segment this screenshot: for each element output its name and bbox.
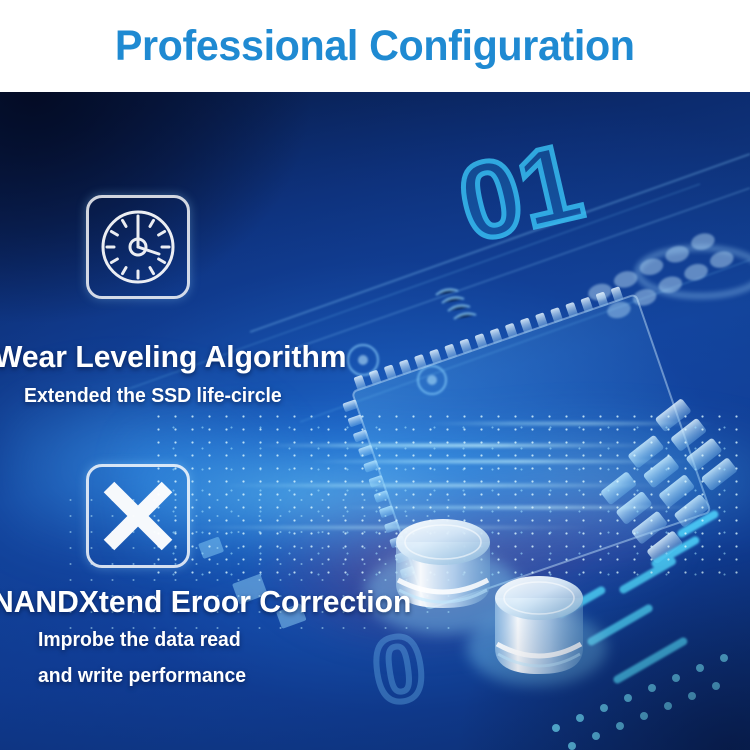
x-mark-icon — [89, 467, 187, 565]
clock-icon — [89, 198, 187, 296]
feature-subline: Extended the SSD life-circle — [24, 386, 282, 406]
feature-subline: and write performance — [38, 666, 246, 686]
capacitor-right — [495, 576, 583, 674]
x-mark-icon-frame — [86, 464, 190, 568]
feature-subline: Improbe the data read — [38, 630, 241, 650]
header-band: Professional Configuration — [0, 0, 750, 92]
feature-headline: Wear Leveling Algorithm — [0, 341, 347, 372]
circuit-board-photo: 01 01 — [0, 92, 750, 750]
clock-icon-frame — [86, 195, 190, 299]
product-feature-banner: Professional Configuration — [0, 0, 750, 750]
page-title: Professional Configuration — [115, 25, 635, 68]
feature-headline: NANDXtend Eroor Correction — [0, 586, 411, 617]
capacitors — [0, 92, 750, 750]
